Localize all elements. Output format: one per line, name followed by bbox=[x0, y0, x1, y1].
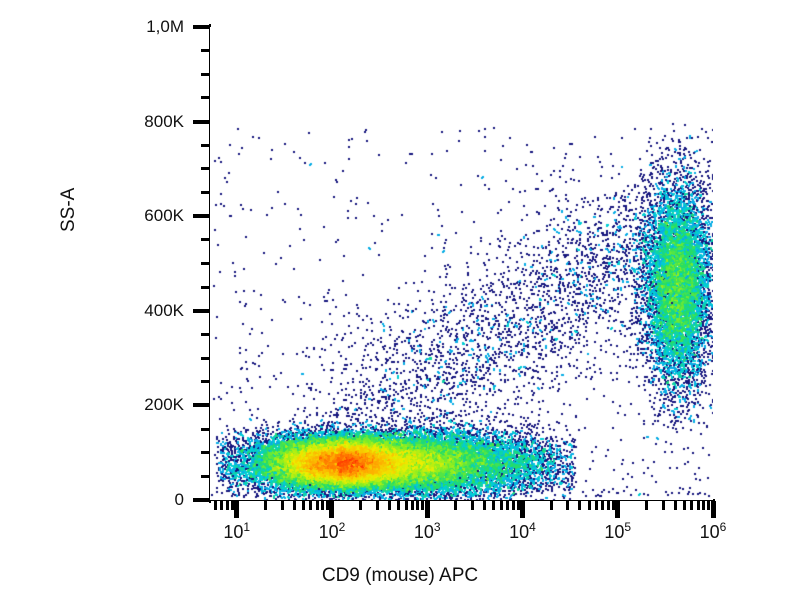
x-axis-tick-label: 103 bbox=[414, 520, 441, 543]
x-axis-major-tick bbox=[711, 501, 716, 518]
x-axis-minor-tick bbox=[588, 501, 591, 510]
x-axis-minor-tick bbox=[483, 501, 486, 510]
x-axis-minor-tick bbox=[302, 501, 305, 510]
x-axis-tick-label: 101 bbox=[223, 520, 250, 543]
x-axis-minor-tick bbox=[578, 501, 581, 510]
x-axis-minor-tick bbox=[512, 501, 515, 510]
x-axis-minor-tick bbox=[397, 501, 400, 510]
x-axis-minor-tick bbox=[309, 501, 312, 510]
x-axis-minor-tick bbox=[316, 501, 319, 510]
x-axis-minor-tick bbox=[697, 501, 700, 510]
x-axis-minor-tick bbox=[214, 501, 217, 510]
x-axis-minor-tick bbox=[500, 501, 503, 510]
x-axis-minor-tick bbox=[683, 501, 686, 510]
y-axis-title: SS-A bbox=[58, 188, 80, 232]
x-axis-minor-tick bbox=[359, 501, 362, 510]
x-axis-major-tick bbox=[615, 501, 620, 518]
x-axis-tick-label: 106 bbox=[700, 520, 727, 543]
x-axis-minor-tick bbox=[601, 501, 604, 510]
x-axis-tick-label: 104 bbox=[509, 520, 536, 543]
x-axis-title: CD9 (mouse) APC bbox=[0, 565, 800, 587]
x-axis-minor-tick bbox=[405, 501, 408, 510]
x-axis-minor-tick bbox=[645, 501, 648, 510]
x-axis-minor-tick bbox=[674, 501, 677, 510]
x-axis-minor-tick bbox=[416, 501, 419, 510]
x-axis-major-tick bbox=[425, 501, 430, 518]
y-axis-tick-label: 200K bbox=[144, 395, 184, 415]
y-axis-major-tick bbox=[193, 25, 210, 29]
flow-cytometry-plot: 0200K400K600K800K1,0M 101102103104105106… bbox=[0, 0, 800, 600]
plot-area bbox=[210, 27, 713, 500]
x-axis-minor-tick bbox=[454, 501, 457, 510]
x-axis-minor-tick bbox=[411, 501, 414, 510]
x-axis-minor-tick bbox=[293, 501, 296, 510]
x-axis-minor-tick bbox=[690, 501, 693, 510]
x-axis-minor-tick bbox=[281, 501, 284, 510]
x-axis-minor-tick bbox=[550, 501, 553, 510]
x-axis-minor-tick bbox=[264, 501, 267, 510]
x-axis-major-tick bbox=[520, 501, 525, 518]
y-axis-major-tick bbox=[193, 309, 210, 313]
y-axis-major-tick bbox=[193, 214, 210, 218]
x-axis-minor-tick bbox=[662, 501, 665, 510]
y-axis-tick-label: 800K bbox=[144, 112, 184, 132]
y-axis-tick-label: 1,0M bbox=[146, 17, 184, 37]
x-axis-minor-tick bbox=[220, 501, 223, 510]
x-axis-minor-tick bbox=[321, 501, 324, 510]
x-axis-minor-tick bbox=[226, 501, 229, 510]
x-axis-minor-tick bbox=[566, 501, 569, 510]
x-axis-minor-tick bbox=[702, 501, 705, 510]
x-axis-tick-label: 105 bbox=[604, 520, 631, 543]
x-axis-minor-tick bbox=[492, 501, 495, 510]
y-axis-major-tick bbox=[193, 403, 210, 407]
x-axis-major-tick bbox=[329, 501, 334, 518]
y-axis-tick-label: 600K bbox=[144, 206, 184, 226]
x-axis-minor-tick bbox=[506, 501, 509, 510]
x-axis-minor-tick bbox=[376, 501, 379, 510]
x-axis-minor-tick bbox=[388, 501, 391, 510]
y-axis-major-tick bbox=[193, 120, 210, 124]
scatter-density-canvas bbox=[210, 27, 713, 500]
x-axis: 101102103104105106 bbox=[0, 501, 800, 531]
y-axis-tick-label: 400K bbox=[144, 301, 184, 321]
x-axis-minor-tick bbox=[471, 501, 474, 510]
x-axis-minor-tick bbox=[607, 501, 610, 510]
x-axis-tick-label: 102 bbox=[319, 520, 346, 543]
x-axis-minor-tick bbox=[595, 501, 598, 510]
x-axis-major-tick bbox=[234, 501, 239, 518]
